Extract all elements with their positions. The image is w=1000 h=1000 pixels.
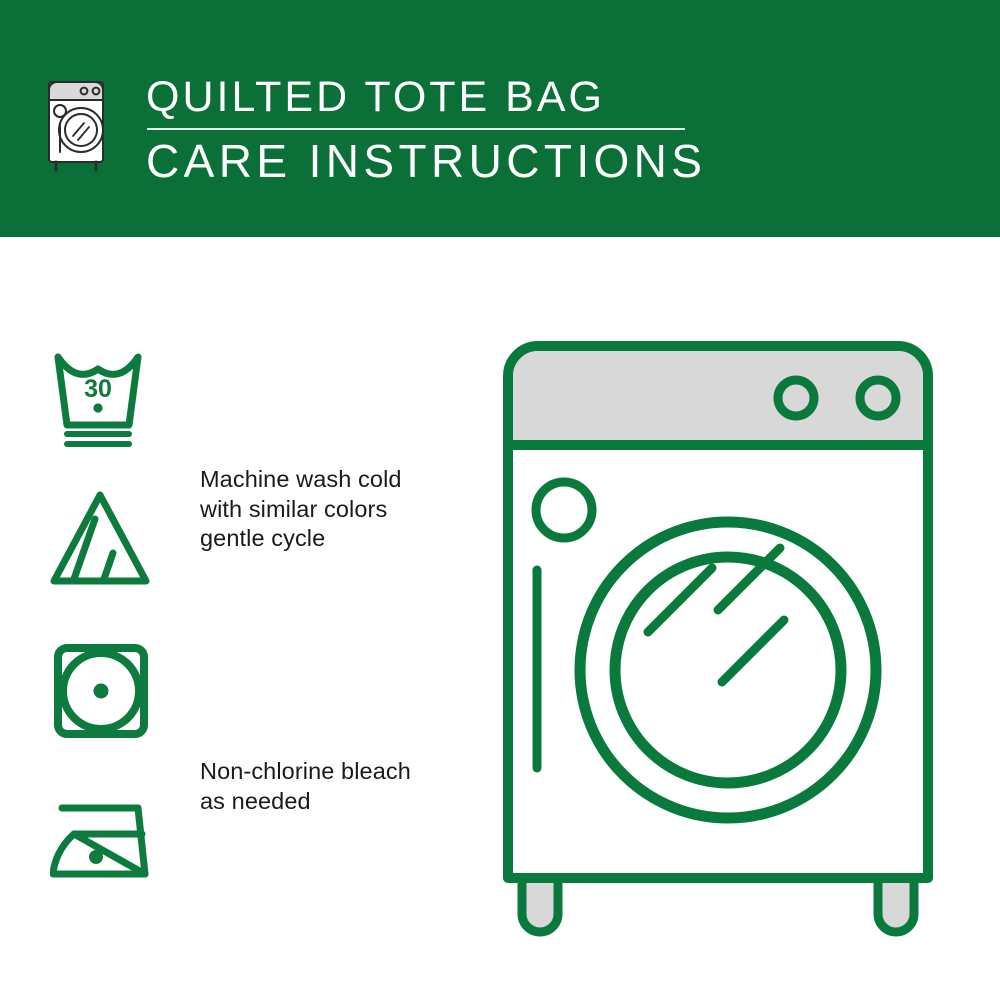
page-subtitle: CARE INSTRUCTIONS (146, 132, 706, 190)
bleach-triangle-icon (50, 487, 160, 597)
care-row-iron: Iron if needed low heat (0, 790, 470, 900)
iron-icon (50, 790, 160, 900)
washing-machine-icon (44, 68, 112, 173)
page-title: QUILTED TOTE BAG (146, 70, 706, 124)
header-divider (147, 128, 685, 130)
wash-temperature-label: 30 (84, 375, 112, 403)
header-text-block: QUILTED TOTE BAG CARE INSTRUCTIONS (146, 70, 706, 180)
care-row-machine-wash: 30 Machine wash cold with similar colors… (0, 345, 470, 457)
care-row-tumble-dry: Tumble dry low heat (0, 640, 470, 752)
machine-feet (522, 876, 914, 932)
wash-basin-icon: 30 (50, 345, 160, 455)
tumble-dry-icon (50, 640, 160, 750)
care-instruction-list: 30 Machine wash cold with similar colors… (0, 237, 470, 1000)
care-row-bleach: Non-chlorine bleach as needed (0, 487, 470, 597)
washing-machine-illustration (480, 320, 980, 950)
care-instructions-page: QUILTED TOTE BAG CARE INSTRUCTIONS 30 (0, 0, 1000, 1000)
header-band: QUILTED TOTE BAG CARE INSTRUCTIONS (0, 0, 1000, 237)
